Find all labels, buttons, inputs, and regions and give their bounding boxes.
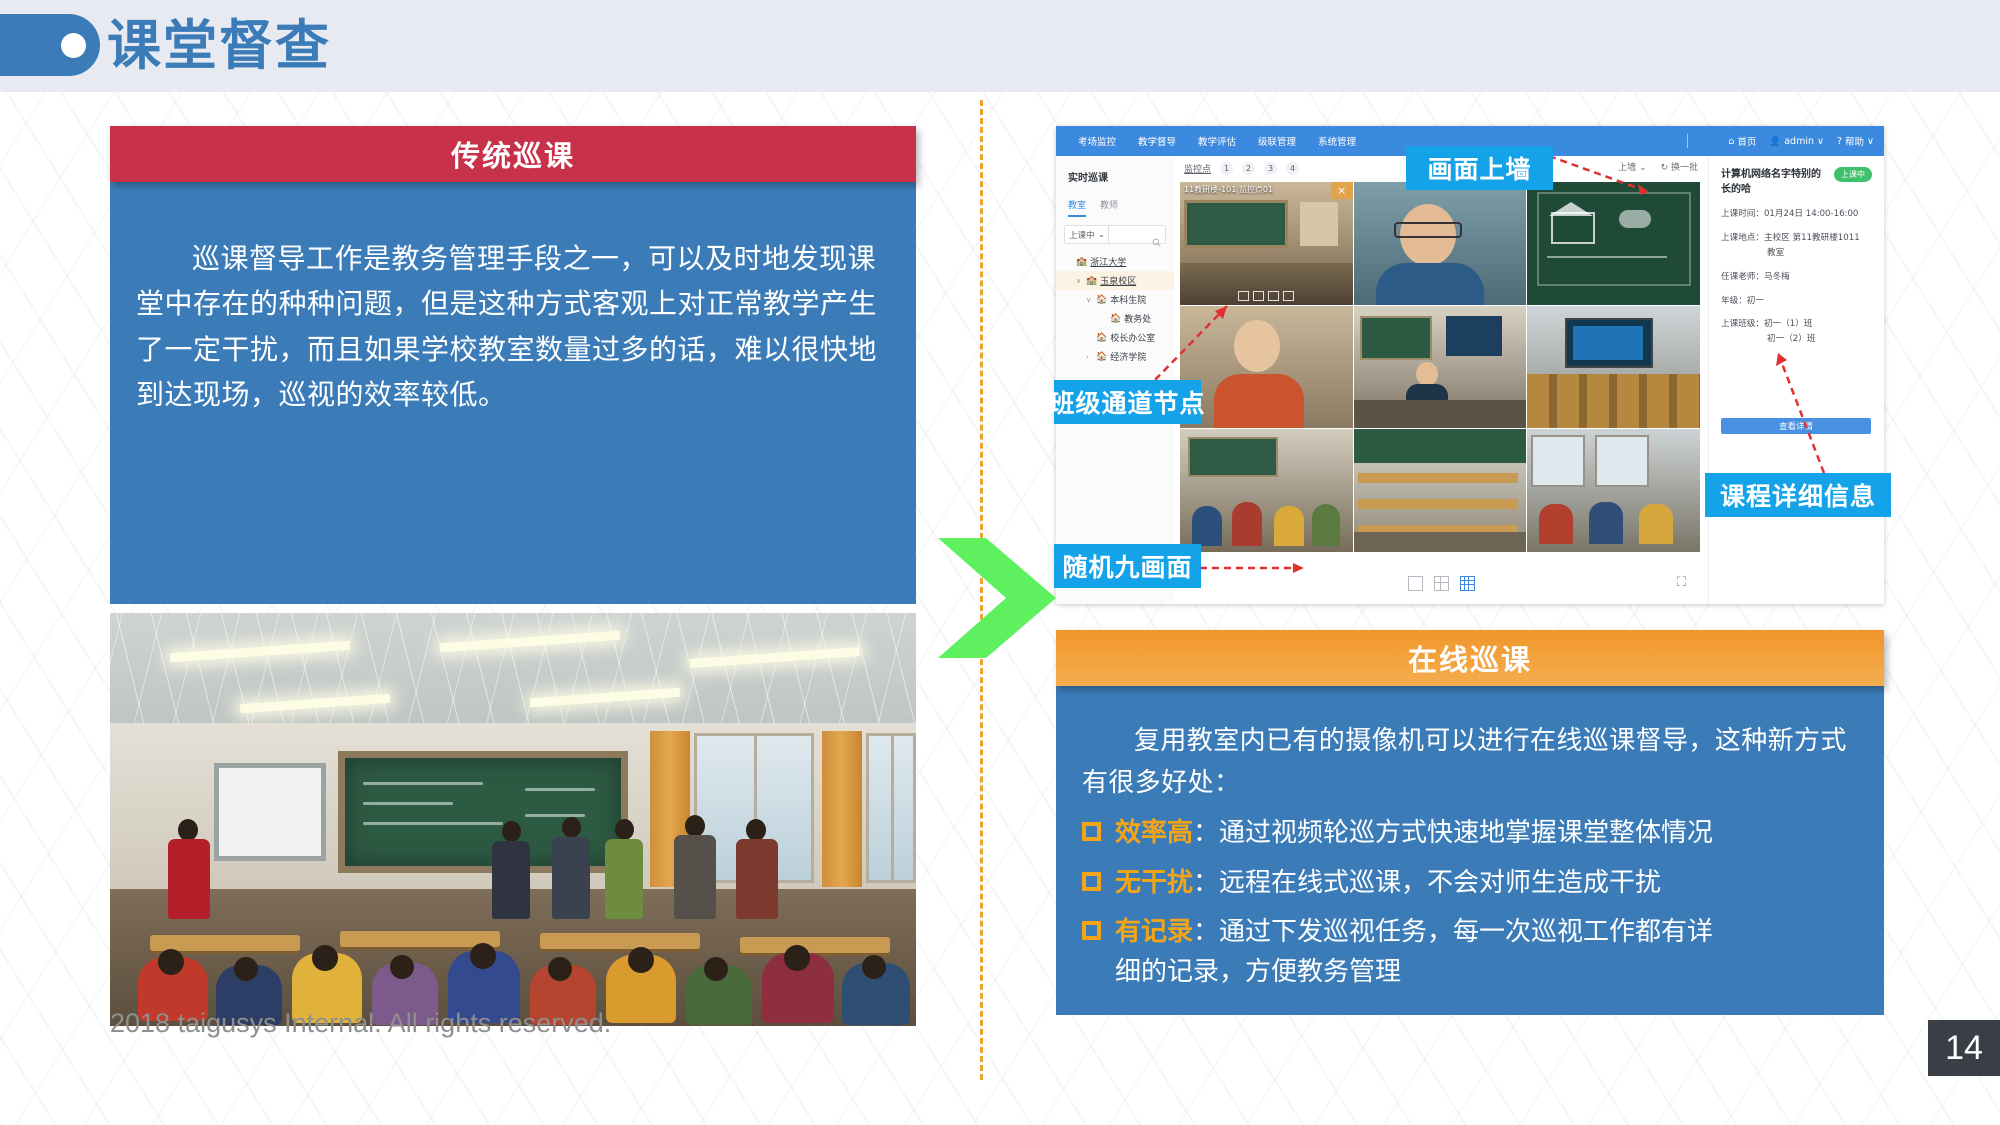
tree-caret[interactable]: ∨ bbox=[1086, 296, 1093, 304]
video-cell[interactable] bbox=[1354, 429, 1527, 552]
sidebar-tabs: 教室 教师 bbox=[1056, 184, 1174, 217]
wall-button[interactable]: 上墙 ⌄ bbox=[1618, 160, 1646, 173]
monitor-point-1[interactable]: 1 bbox=[1220, 162, 1233, 175]
slide-header: 课堂督查 bbox=[0, 0, 2000, 92]
benefit-sep: ： bbox=[1193, 867, 1219, 897]
tree-node-economics-college[interactable]: › 🏠 经济学院 bbox=[1056, 347, 1174, 366]
nav-item-exam-monitor[interactable]: 考场监控 bbox=[1078, 134, 1116, 148]
chevron-down-icon: ∨ bbox=[1867, 136, 1874, 147]
benefit-key: 有记录 bbox=[1115, 916, 1193, 946]
toggle-knob bbox=[61, 33, 86, 58]
benefit-key: 效率高 bbox=[1115, 817, 1193, 847]
callout-screen-to-wall: 画面上墙 bbox=[1406, 146, 1553, 190]
nav-separator bbox=[1687, 134, 1688, 148]
chevron-down-icon: ⌄ bbox=[1098, 230, 1105, 240]
app-screenshot: 考场监控 教学督导 教学评估 级联管理 系统管理 ⌂ 首页 👤 admin ∨ bbox=[1056, 126, 1884, 604]
layout-1x1-icon[interactable] bbox=[1408, 576, 1423, 591]
school-icon: 🏫 bbox=[1076, 257, 1087, 267]
layout-switcher bbox=[1174, 572, 1708, 594]
tree-caret[interactable]: ∨ bbox=[1076, 277, 1083, 285]
video-cell[interactable] bbox=[1354, 306, 1527, 429]
benefit-sep: ： bbox=[1193, 916, 1219, 946]
course-grade: 年级：初一 bbox=[1721, 295, 1874, 308]
course-class-cont: 初一（2）班 bbox=[1721, 333, 1874, 346]
course-time: 上课时间：01月24日 14:00-16:00 bbox=[1721, 208, 1874, 221]
classroom-photo bbox=[110, 613, 916, 1026]
nav-right-group: ⌂ 首页 👤 admin ∨ ? 帮助 ∨ bbox=[1728, 126, 1874, 156]
traditional-panel: 传统巡课 巡课督导工作是教务管理手段之一，可以及时地发现课堂中存在的种种问题，但… bbox=[110, 126, 916, 996]
monitor-point-4[interactable]: 4 bbox=[1286, 162, 1299, 175]
course-place-cont: 教室 bbox=[1721, 247, 1874, 260]
video-grid: 11教研楼-101 监控点01 × bbox=[1180, 182, 1700, 552]
sidebar-title: 实时巡课 bbox=[1056, 156, 1174, 184]
video-cell[interactable] bbox=[1354, 182, 1527, 305]
status-select[interactable]: 上课中 ⌄ bbox=[1065, 226, 1109, 243]
benefit-item-efficiency: 效率高：通过视频轮巡方式快速地掌握课堂整体情况 bbox=[1082, 813, 1858, 853]
nav-user-menu[interactable]: 👤 admin ∨ bbox=[1769, 136, 1824, 147]
monitor-point-3[interactable]: 3 bbox=[1264, 162, 1277, 175]
tree-node-campus[interactable]: ∨ 🏫 玉泉校区 bbox=[1056, 271, 1174, 290]
monitor-point-2[interactable]: 2 bbox=[1242, 162, 1255, 175]
nav-home-label: 首页 bbox=[1737, 134, 1756, 148]
video-cell[interactable] bbox=[1527, 306, 1700, 429]
page-number: 14 bbox=[1928, 1020, 2000, 1076]
benefit-text: 远程在线式巡课，不会对师生造成干扰 bbox=[1219, 867, 1661, 897]
benefit-text: 通过下发巡视任务，每一次巡视工作都有详 bbox=[1219, 916, 1713, 946]
video-cell[interactable] bbox=[1180, 429, 1353, 552]
video-cell[interactable] bbox=[1527, 182, 1700, 305]
course-place: 上课地点：主校区 第11教研楼1011 bbox=[1721, 232, 1874, 245]
video-cell-label: 11教研楼-101 监控点01 bbox=[1180, 182, 1277, 197]
traditional-card-text: 巡课督导工作是教务管理手段之一，可以及时地发现课堂中存在的种种问题，但是这种方式… bbox=[136, 236, 890, 417]
tab-classroom[interactable]: 教室 bbox=[1068, 198, 1086, 217]
toggle-icon bbox=[0, 14, 100, 76]
benefit-key: 无干扰 bbox=[1115, 867, 1193, 897]
tree-node-academic-affairs[interactable]: 🏠 教务处 bbox=[1056, 309, 1174, 328]
org-tree: 🏫 浙江大学 ∨ 🏫 玉泉校区 ∨ 🏠 本科生院 bbox=[1056, 244, 1174, 366]
layout-2x2-icon[interactable] bbox=[1434, 576, 1449, 591]
callout-course-detail-info: 课程详细信息 bbox=[1705, 473, 1891, 517]
tree-node-university[interactable]: 🏫 浙江大学 bbox=[1056, 252, 1174, 271]
green-arrow-icon bbox=[938, 538, 1056, 658]
nav-help-label: 帮助 bbox=[1845, 134, 1864, 148]
view-detail-button[interactable]: 查看详情 bbox=[1721, 418, 1871, 434]
tree-node-label: 浙江大学 bbox=[1090, 255, 1126, 269]
video-cell[interactable]: 11教研楼-101 监控点01 × bbox=[1180, 182, 1353, 305]
close-icon[interactable]: × bbox=[1331, 182, 1353, 199]
tree-node-undergrad-college[interactable]: ∨ 🏠 本科生院 bbox=[1056, 290, 1174, 309]
status-badge: 上课中 bbox=[1834, 167, 1872, 182]
online-panel: 考场监控 教学督导 教学评估 级联管理 系统管理 ⌂ 首页 👤 admin ∨ bbox=[1056, 126, 1884, 604]
chevron-down-icon: ∨ bbox=[1817, 136, 1824, 147]
square-bullet-icon bbox=[1082, 822, 1101, 841]
copyright-footer: 2018 taigusys Internal. All rights reser… bbox=[110, 1008, 611, 1039]
tree-node-label: 校长办公室 bbox=[1110, 331, 1155, 345]
slide-root: 课堂督查 传统巡课 巡课督导工作是教务管理手段之一，可以及时地发现课堂中存在的种… bbox=[0, 0, 2000, 1125]
nav-user-label: admin bbox=[1784, 136, 1814, 147]
refresh-button-label: 换一批 bbox=[1671, 163, 1698, 173]
help-icon: ? bbox=[1837, 136, 1842, 147]
online-intro-text: 复用教室内已有的摄像机可以进行在线巡课督导，这种新方式有很多好处： bbox=[1082, 720, 1858, 803]
traditional-card-title: 传统巡课 bbox=[110, 126, 916, 182]
building-icon: 🏠 bbox=[1096, 295, 1107, 305]
sidebar-filter-bar: 上课中 ⌄ bbox=[1064, 225, 1166, 244]
tree-node-label: 教务处 bbox=[1124, 312, 1151, 326]
refresh-button[interactable]: ↻ 换一批 bbox=[1661, 160, 1698, 173]
benefit-item-records: 有记录：通过下发巡视任务，每一次巡视工作都有详 bbox=[1082, 912, 1858, 952]
tree-node-label: 经济学院 bbox=[1110, 350, 1146, 364]
benefit-sep: ： bbox=[1193, 817, 1219, 847]
online-card-title: 在线巡课 bbox=[1056, 630, 1884, 686]
benefit-text: 通过视频轮巡方式快速地掌握课堂整体情况 bbox=[1219, 817, 1713, 847]
refresh-icon: ↻ bbox=[1661, 163, 1669, 173]
online-card: 在线巡课 复用教室内已有的摄像机可以进行在线巡课督导，这种新方式有很多好处： 效… bbox=[1056, 630, 1884, 1015]
status-select-value: 上课中 bbox=[1069, 229, 1095, 241]
benefit-item-no-interference: 无干扰：远程在线式巡课，不会对师生造成干扰 bbox=[1082, 863, 1858, 903]
course-class: 上课班级：初一（1）班 bbox=[1721, 318, 1874, 331]
page-title: 课堂督查 bbox=[107, 8, 331, 84]
square-bullet-icon bbox=[1082, 921, 1101, 940]
callout-random-nine-views: 随机九画面 bbox=[1054, 544, 1201, 588]
tab-teacher[interactable]: 教师 bbox=[1100, 198, 1118, 217]
callout-class-channel-node: 班级通道节点 bbox=[1054, 380, 1201, 424]
building-icon: 🏠 bbox=[1110, 314, 1121, 324]
fullscreen-icon[interactable]: ⛶ bbox=[1677, 575, 1686, 590]
building-icon: 🏠 bbox=[1096, 352, 1107, 362]
course-detail-panel: 计算机网络名字特别的长的哈 上课中 上课时间：01月24日 14:00-16:0… bbox=[1708, 156, 1884, 604]
layout-3x3-icon[interactable] bbox=[1460, 576, 1475, 591]
nav-item-cascade-management[interactable]: 级联管理 bbox=[1258, 134, 1296, 148]
school-icon: 🏫 bbox=[1086, 276, 1097, 286]
course-teacher: 任课老师：马冬梅 bbox=[1721, 271, 1874, 284]
nav-home-button[interactable]: ⌂ 首页 bbox=[1728, 134, 1756, 148]
nav-help-menu[interactable]: ? 帮助 ∨ bbox=[1837, 134, 1874, 148]
traditional-card-body: 巡课督导工作是教务管理手段之一，可以及时地发现课堂中存在的种种问题，但是这种方式… bbox=[110, 182, 916, 604]
tree-node-label: 本科生院 bbox=[1110, 293, 1146, 307]
search-icon bbox=[1152, 238, 1161, 250]
video-cell[interactable] bbox=[1527, 429, 1700, 552]
tree-node-principal-office[interactable]: 🏠 校长办公室 bbox=[1056, 328, 1174, 347]
monitor-point-label: 监控点 bbox=[1184, 162, 1211, 175]
online-card-body: 复用教室内已有的摄像机可以进行在线巡课督导，这种新方式有很多好处： 效率高：通过… bbox=[1056, 686, 1884, 1015]
wall-button-label: 上墙 bbox=[1618, 163, 1636, 173]
home-icon: ⌂ bbox=[1728, 136, 1734, 147]
nav-item-teaching-supervision[interactable]: 教学督导 bbox=[1138, 134, 1176, 148]
benefit-text-continued: 细的记录，方便教务管理 bbox=[1115, 952, 1858, 992]
tree-node-label: 玉泉校区 bbox=[1100, 274, 1136, 288]
square-bullet-icon bbox=[1082, 872, 1101, 891]
video-right-tools: 上墙 ⌄ ↻ 换一批 bbox=[1618, 160, 1698, 173]
user-icon: 👤 bbox=[1769, 136, 1781, 147]
nav-item-system-management[interactable]: 系统管理 bbox=[1318, 134, 1356, 148]
tree-caret[interactable]: › bbox=[1086, 353, 1093, 361]
nav-item-teaching-evaluation[interactable]: 教学评估 bbox=[1198, 134, 1236, 148]
chevron-down-icon: ⌄ bbox=[1639, 163, 1647, 173]
building-icon: 🏠 bbox=[1096, 333, 1107, 343]
video-wall: 监控点 1 2 3 4 上墙 ⌄ ↻ 换一批 bbox=[1174, 156, 1708, 604]
